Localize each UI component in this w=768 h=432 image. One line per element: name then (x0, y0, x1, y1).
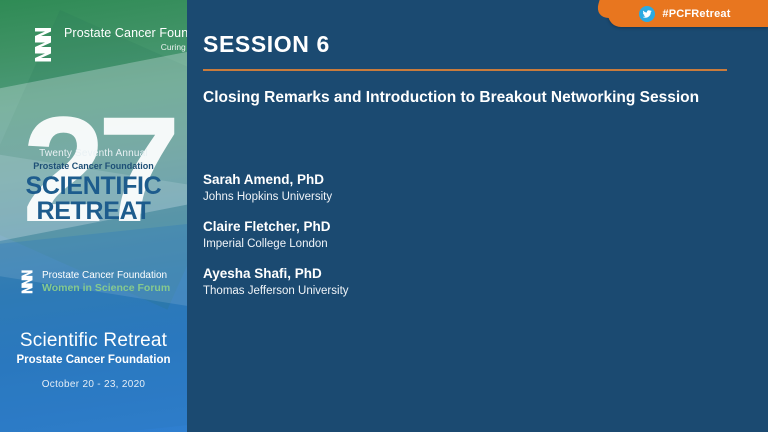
pcf-logo-name: Prostate Cancer Foundation (64, 26, 187, 40)
twitter-hashtag-banner: #PCFRetreat (608, 0, 768, 27)
wis-forum-line: Women in Science Forum (42, 282, 170, 295)
pcf-logo-tagline: Curing Together. (64, 43, 187, 53)
speaker-affiliation: Imperial College London (203, 237, 653, 252)
speaker-affiliation: Thomas Jefferson University (203, 284, 653, 299)
sidebar-footer-subtitle: Prostate Cancer Foundation (0, 354, 187, 366)
speaker-entry: Sarah Amend, PhD Johns Hopkins Universit… (203, 172, 653, 205)
session-label: SESSION 6 (203, 31, 330, 58)
pcf-helix-logo-icon (30, 26, 56, 64)
sidebar-footer-dates: October 20 - 23, 2020 (0, 379, 187, 390)
branding-sidebar: Prostate Cancer Foundation Curing Togeth… (0, 0, 187, 432)
talk-title: Closing Remarks and Introduction to Brea… (203, 87, 755, 109)
speaker-entry: Claire Fletcher, PhD Imperial College Lo… (203, 219, 653, 252)
title-divider (203, 69, 727, 71)
retreat-retreat-line: RETREAT (0, 199, 187, 224)
sidebar-footer: Scientific Retreat Prostate Cancer Found… (0, 330, 187, 366)
speaker-name: Ayesha Shafi, PhD (203, 266, 653, 283)
twitter-hashtag-label: #PCFRetreat (662, 8, 730, 20)
sidebar-footer-title: Scientific Retreat (0, 330, 187, 352)
women-in-science-lockup: Prostate Cancer Foundation Women in Scie… (18, 269, 170, 295)
pcf-helix-logo-icon (18, 269, 36, 295)
wis-org-line: Prostate Cancer Foundation (42, 270, 170, 282)
speaker-name: Claire Fletcher, PhD (203, 219, 653, 236)
twitter-bird-icon (639, 6, 655, 22)
speaker-list: Sarah Amend, PhD Johns Hopkins Universit… (203, 172, 653, 312)
retreat-title-block: Twenty Seventh Annual Prostate Cancer Fo… (0, 148, 187, 224)
speaker-entry: Ayesha Shafi, PhD Thomas Jefferson Unive… (203, 266, 653, 299)
retreat-org-line: Prostate Cancer Foundation (0, 161, 187, 171)
retreat-scientific-line: SCIENTIFIC (0, 174, 187, 199)
slide-content: SESSION 6 Closing Remarks and Introducti… (187, 0, 768, 432)
pcf-logo-lockup: Prostate Cancer Foundation Curing Togeth… (30, 26, 187, 64)
speaker-affiliation: Johns Hopkins University (203, 190, 653, 205)
presentation-slide: Prostate Cancer Foundation Curing Togeth… (0, 0, 768, 432)
speaker-name: Sarah Amend, PhD (203, 172, 653, 189)
retreat-annual-line: Twenty Seventh Annual (0, 148, 187, 159)
